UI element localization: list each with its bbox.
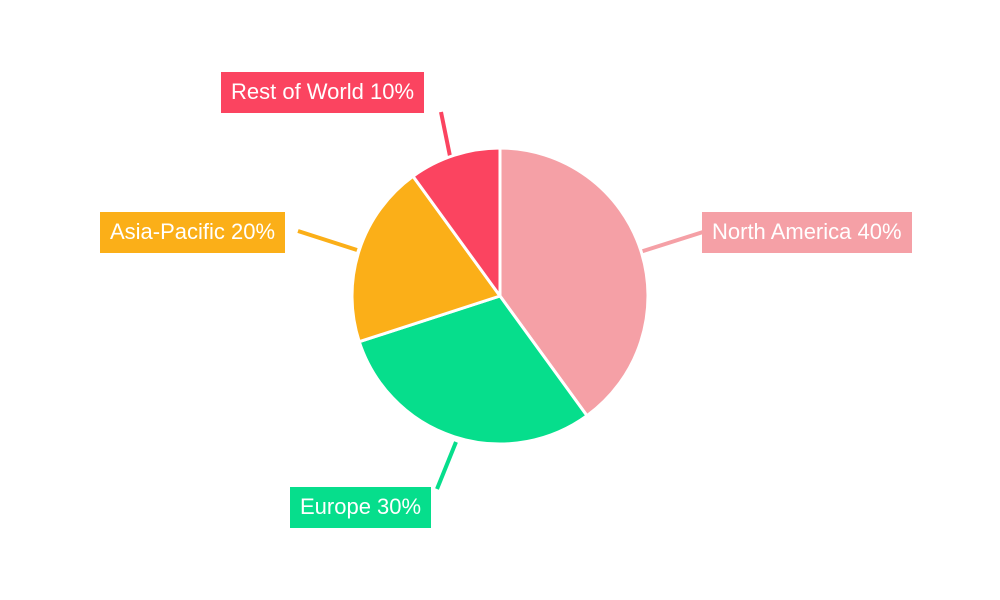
pie-chart: North America 40% Europe 30% Asia-Pacifi…: [0, 0, 1000, 600]
pie-label-asia-pacific[interactable]: Asia-Pacific 20%: [100, 212, 285, 253]
leader-line-north-america: [640, 232, 703, 252]
pie-label-north-america[interactable]: North America 40%: [702, 212, 912, 253]
leader-line-europe: [437, 442, 456, 489]
leader-line-asia-pacific: [298, 231, 357, 250]
pie-label-rest-of-world[interactable]: Rest of World 10%: [221, 72, 424, 113]
pie-label-europe[interactable]: Europe 30%: [290, 487, 431, 528]
pie-chart-canvas: [0, 0, 1000, 600]
